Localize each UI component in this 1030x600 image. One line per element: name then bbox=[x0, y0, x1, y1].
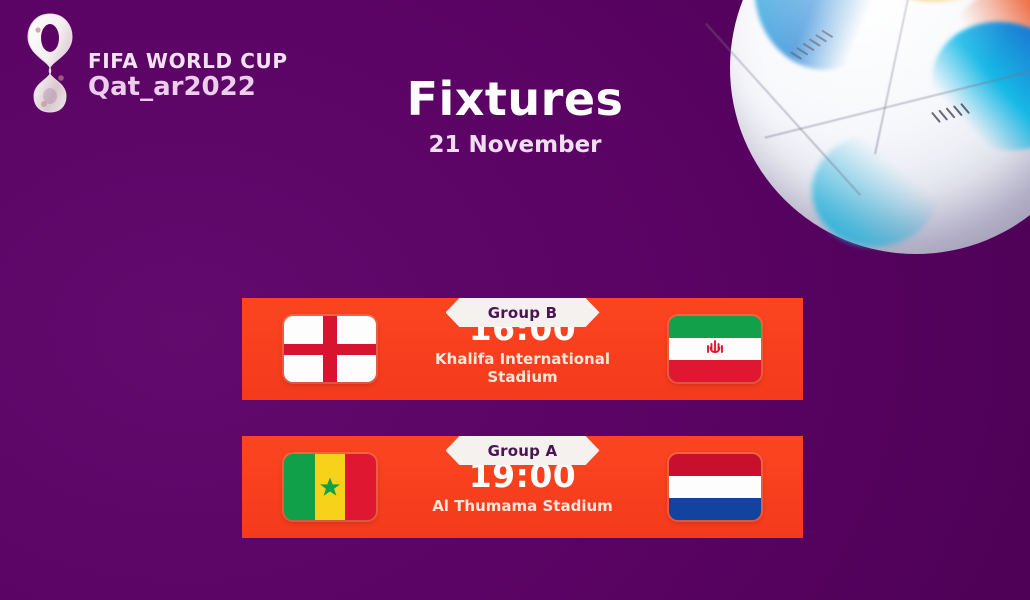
fixture-row[interactable]: Group B 16:00 Khalifa International Stad… bbox=[242, 298, 803, 400]
flag-netherlands-icon bbox=[669, 454, 761, 520]
fixtures-graphic: FIFA WORLD CUP Qat_ar2022 Fixtures 21 No… bbox=[0, 0, 1030, 600]
fifa-world-cup-wordmark: FIFA WORLD CUP bbox=[88, 49, 288, 73]
fixture-row[interactable]: Group A 19:00 Al Thumama Stadium bbox=[242, 436, 803, 538]
fixture-details: 19:00 Al Thumama Stadium bbox=[376, 459, 669, 515]
fixture-date: 21 November bbox=[0, 132, 1030, 158]
venue-name: Al Thumama Stadium bbox=[432, 497, 613, 515]
page-heading: Fixtures 21 November bbox=[0, 72, 1030, 158]
group-badge: Group B bbox=[446, 298, 600, 327]
fixture-list: Group B 16:00 Khalifa International Stad… bbox=[242, 278, 803, 574]
page-title: Fixtures bbox=[0, 72, 1030, 126]
flag-iran-icon bbox=[669, 316, 761, 382]
flag-england-icon bbox=[284, 316, 376, 382]
venue-name: Khalifa International Stadium bbox=[408, 350, 638, 386]
group-badge: Group A bbox=[446, 436, 600, 465]
flag-senegal-icon bbox=[284, 454, 376, 520]
